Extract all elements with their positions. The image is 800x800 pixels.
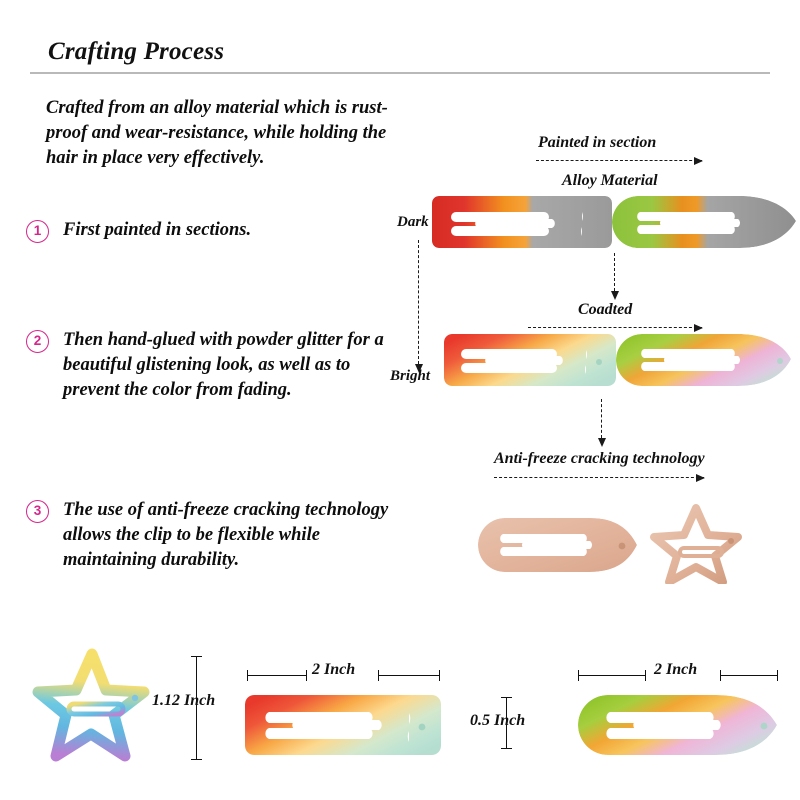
arrow-painted-in-section [536, 160, 702, 161]
dimension-line-rect-width-left [247, 675, 307, 676]
clip-star-rainbow [32, 648, 150, 764]
arrow-anti-freeze [494, 477, 704, 478]
step-number-badge-1: 1 [26, 220, 49, 243]
label-bright: Bright [390, 368, 430, 385]
page-title: Crafting Process [48, 38, 224, 66]
clip-rectangular-product [245, 695, 441, 755]
label-alloy-material: Alloy Material [562, 172, 658, 190]
label-coadted: Coadted [578, 301, 632, 319]
clip-snap-raw [612, 196, 798, 248]
step-text-1: First painted in sections. [63, 218, 251, 243]
clip-snap-coated [616, 334, 792, 386]
intro-paragraph: Crafted from an alloy material which is … [46, 96, 401, 171]
step-number-badge-2: 2 [26, 330, 49, 353]
step-item-3: 3 The use of anti-freeze cracking techno… [26, 498, 406, 573]
clip-star-rose-gold [650, 504, 742, 584]
arrow-row2-to-row3 [601, 399, 602, 438]
step-text-2: Then hand-glued with powder glitter for … [63, 328, 406, 403]
measurement-snap-width: 2 Inch [654, 661, 697, 679]
dimension-line-rect-width-right [378, 675, 440, 676]
infographic-page: Crafting Process Crafted from an alloy m… [0, 0, 800, 800]
step-text-3: The use of anti-freeze cracking technolo… [63, 498, 406, 573]
clip-snap-product [578, 695, 778, 755]
arrow-dark-to-bright [418, 240, 419, 364]
step-item-2: 2 Then hand-glued with powder glitter fo… [26, 328, 406, 403]
measurement-rect-width: 2 Inch [312, 661, 355, 679]
step-item-1: 1 First painted in sections. [26, 218, 406, 243]
clip-rectangular-raw [432, 196, 612, 248]
label-anti-freeze-cracking-technology: Anti-freeze cracking technology [494, 450, 705, 468]
dimension-line-snap-width-left [578, 675, 646, 676]
measurement-snap-height: 0.5 Inch [470, 712, 525, 730]
clip-rectangular-coated [444, 334, 616, 386]
arrow-row1-to-row2 [614, 253, 615, 291]
arrow-coadted [528, 327, 702, 328]
title-divider [30, 72, 770, 74]
dimension-line-snap-width-right [720, 675, 778, 676]
clip-snap-rose-gold [478, 518, 638, 572]
step-number-badge-3: 3 [26, 500, 49, 523]
label-painted-in-section: Painted in section [538, 134, 656, 152]
measurement-star-height: 1.12 Inch [152, 692, 215, 710]
label-dark: Dark [397, 214, 429, 231]
